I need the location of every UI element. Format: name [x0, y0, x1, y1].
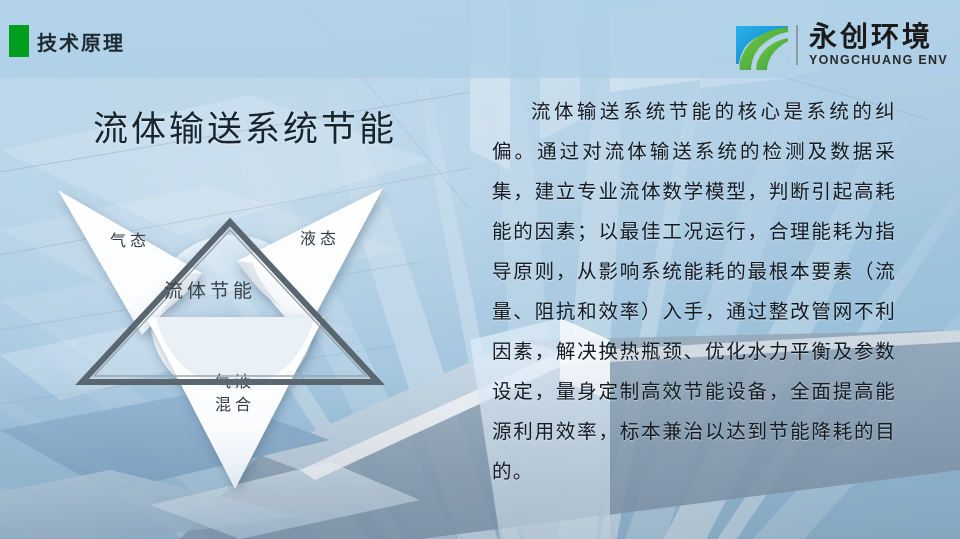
leaf-swoosh-logo-icon [734, 20, 790, 70]
fluid-energy-saving-triangle-diagram: 气态 液态 [50, 175, 410, 500]
slide-header: 技术原理 永创环境 YONGCHUANG ENV [0, 0, 960, 78]
logo-name-en: YONGCHUANG ENV [809, 54, 948, 67]
logo-name-cn: 永创环境 [809, 23, 948, 51]
center-triangle-outline [70, 210, 390, 400]
slide-title: 流体输送系统节能 [93, 101, 397, 152]
slide-canvas: 技术原理 永创环境 YONGCHUANG ENV [0, 0, 960, 539]
body-paragraph: 流体输送系统节能的核心是系统的纠偏。通过对流体输送系统的检测及数据采集，建立专业… [492, 92, 896, 492]
header-title: 技术原理 [37, 27, 125, 56]
logo-divider [796, 25, 798, 65]
company-logo: 永创环境 YONGCHUANG ENV [734, 18, 948, 72]
header-accent-mark-icon [9, 25, 29, 57]
center-triangle-label: 流体节能 [50, 276, 370, 303]
